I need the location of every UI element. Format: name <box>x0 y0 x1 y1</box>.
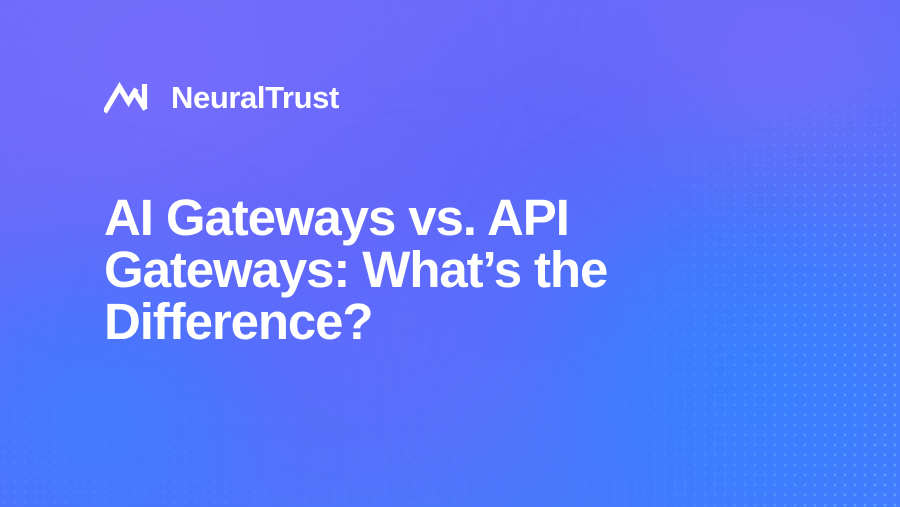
cover-canvas: NeuralTrust AI Gateways vs. API Gateways… <box>0 0 900 507</box>
page-title: AI Gateways vs. API Gateways: What’s the… <box>104 192 744 348</box>
brand-name: NeuralTrust <box>171 82 339 113</box>
neuraltrust-logo-icon <box>104 80 154 114</box>
brand-lockup: NeuralTrust <box>104 80 339 114</box>
halftone-dot-field-bottom <box>160 327 780 507</box>
